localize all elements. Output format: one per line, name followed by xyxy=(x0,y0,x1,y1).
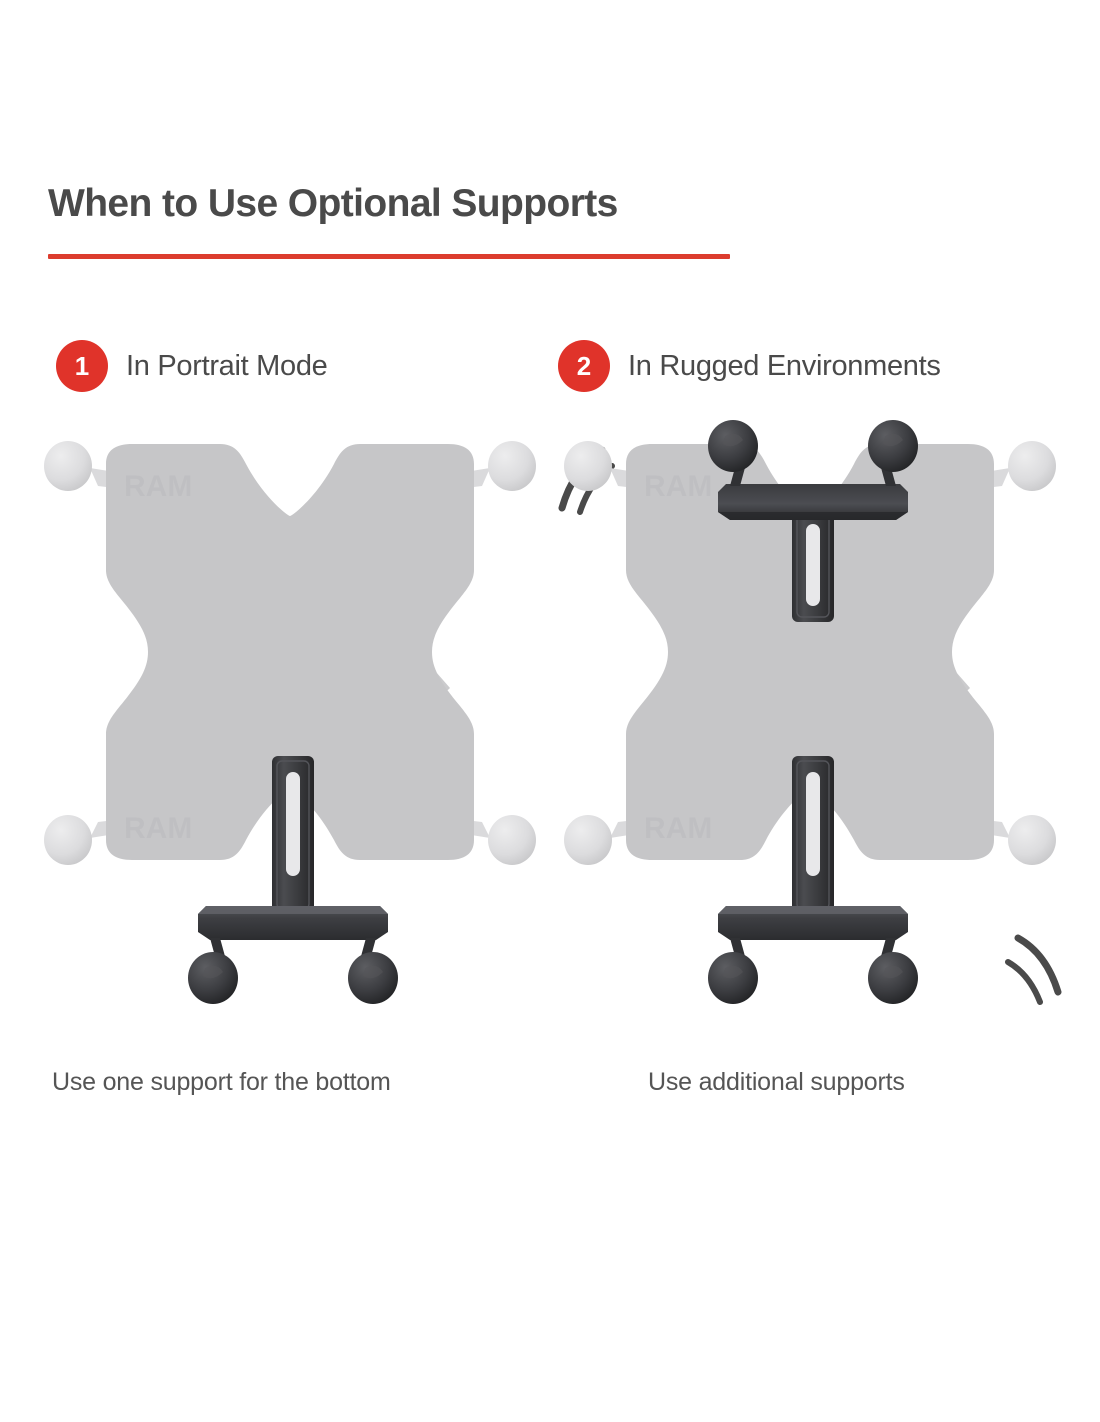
step-number-badge-1: 1 xyxy=(56,340,108,392)
cradle-ball-top-right xyxy=(1008,441,1056,491)
illustration-panel-1: RAM RAM xyxy=(20,420,560,1040)
cradle-ball-top-left xyxy=(44,441,92,491)
cradle-ball-bottom-left xyxy=(44,815,92,865)
step-label-2: In Rugged Environments xyxy=(628,350,941,383)
step-number-badge-2: 2 xyxy=(558,340,610,392)
svg-text:RAM: RAM xyxy=(124,812,192,845)
support-post-slot-top xyxy=(806,524,820,606)
cradle-ball-bottom-left xyxy=(564,815,612,865)
infographic-page: When to Use Optional Supports 1 In Portr… xyxy=(0,0,1100,1422)
title-underline-rule xyxy=(48,254,730,259)
support-post-slot-bottom xyxy=(806,772,820,876)
step-label-1: In Portrait Mode xyxy=(126,350,328,383)
cradle-ball-top-left xyxy=(564,441,612,491)
cradle-ball-bottom-right xyxy=(488,815,536,865)
support-post-slot xyxy=(286,772,300,876)
step-header-2: 2 In Rugged Environments xyxy=(558,340,941,392)
illustration-panel-2: RAM RAM xyxy=(540,420,1080,1040)
svg-text:RAM: RAM xyxy=(644,812,712,845)
caption-step-2: Use additional supports xyxy=(648,1068,905,1097)
cradle-ball-bottom-right xyxy=(1008,815,1056,865)
page-title: When to Use Optional Supports xyxy=(48,182,618,226)
step-header-1: 1 In Portrait Mode xyxy=(56,340,328,392)
svg-text:RAM: RAM xyxy=(124,470,192,503)
caption-step-1: Use one support for the bottom xyxy=(52,1068,391,1097)
motion-arc-lower-right xyxy=(1008,938,1058,1002)
svg-text:RAM: RAM xyxy=(644,470,712,503)
cradle-ball-top-right xyxy=(488,441,536,491)
